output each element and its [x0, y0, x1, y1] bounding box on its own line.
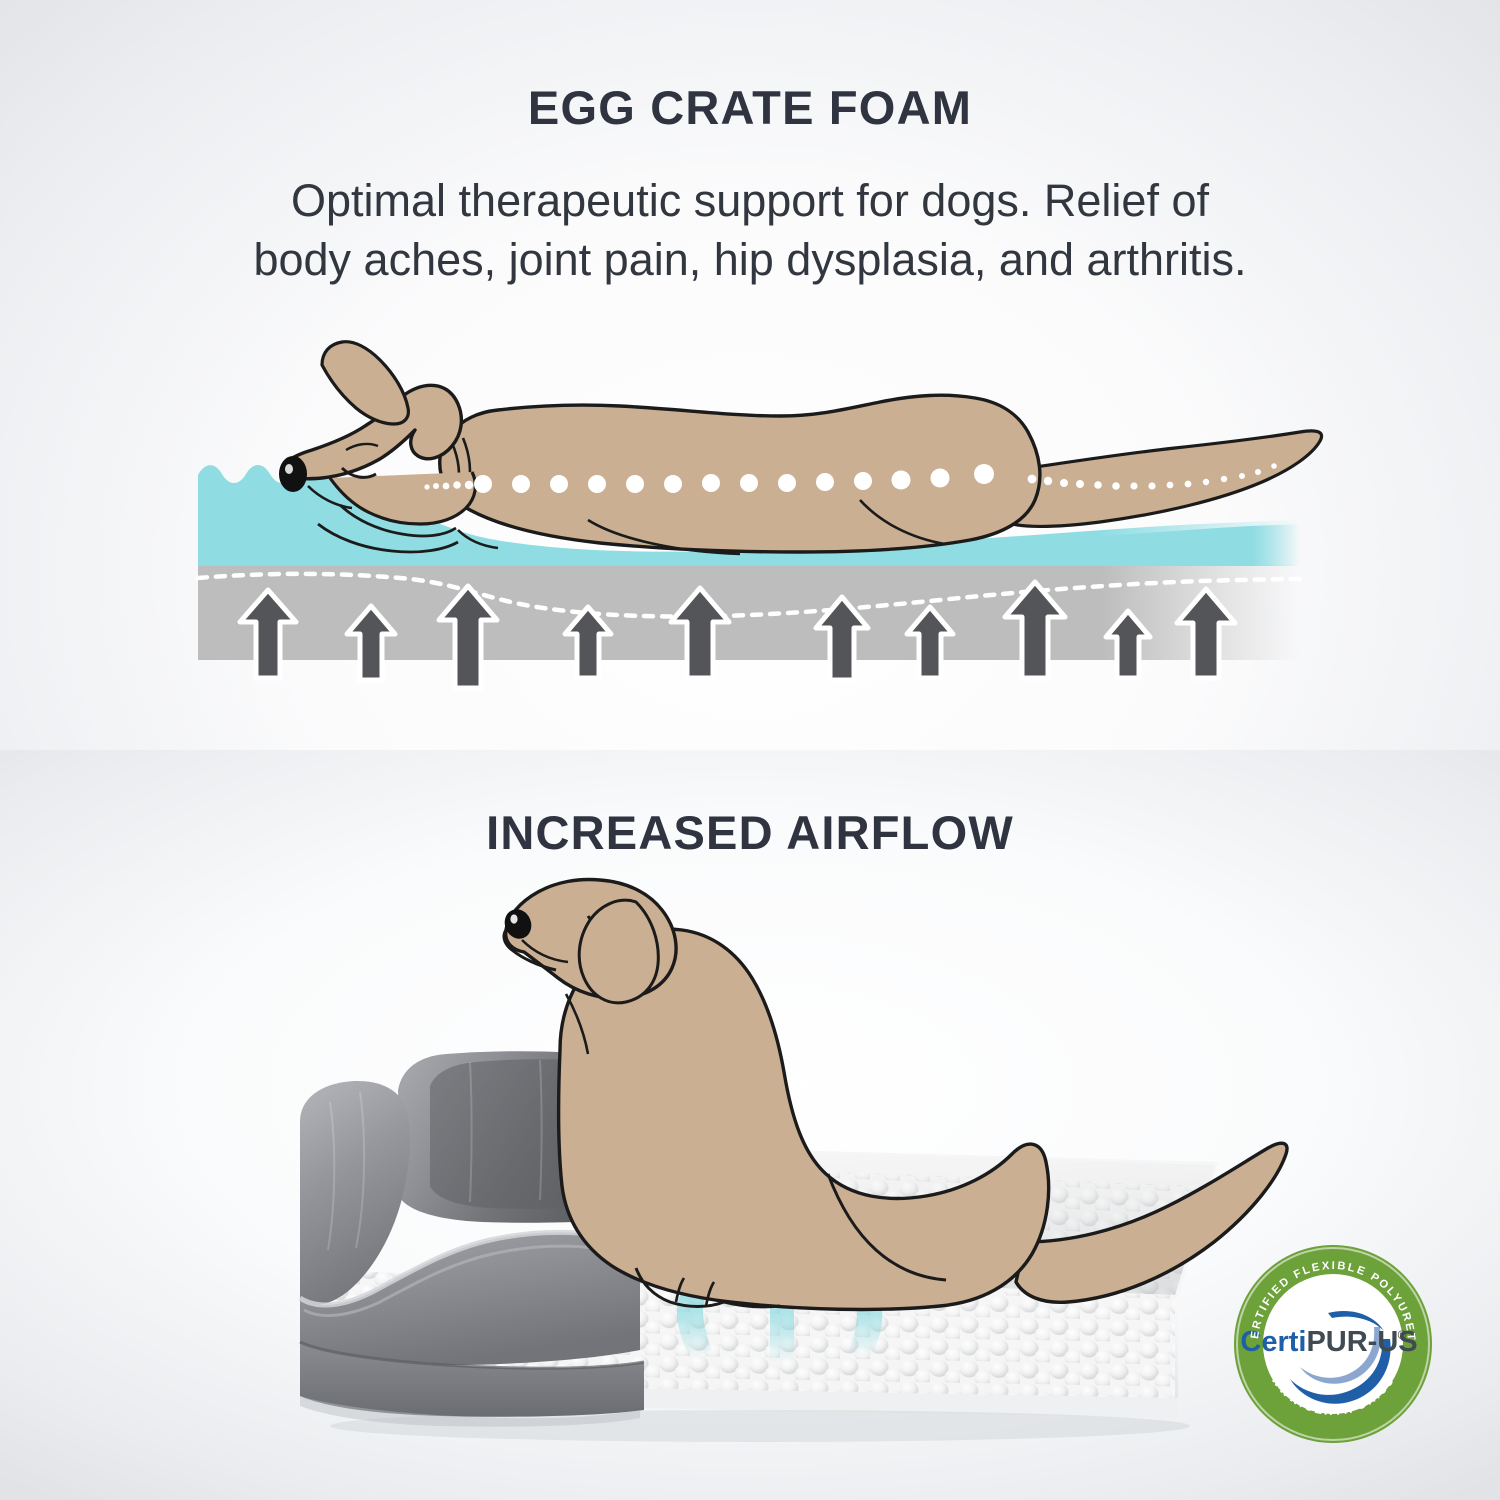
increased-airflow-section: INCREASED AIRFLOW — [0, 750, 1500, 1500]
infographic-page: EGG CRATE FOAM Optimal therapeutic suppo… — [0, 0, 1500, 1500]
top-illustration — [0, 0, 1500, 750]
dog-nose — [280, 457, 306, 491]
egg-crate-foam-section: EGG CRATE FOAM Optimal therapeutic suppo… — [0, 0, 1500, 750]
dog-sitting-illustration — [502, 880, 1287, 1310]
certipur-us-badge: CertiPUR-US ® CONTAINS CERTIFIED FLEXIBL… — [1232, 1243, 1434, 1445]
dog-lying-illustration — [280, 342, 1322, 554]
badge-center-text: CertiPUR-US — [1240, 1326, 1417, 1358]
